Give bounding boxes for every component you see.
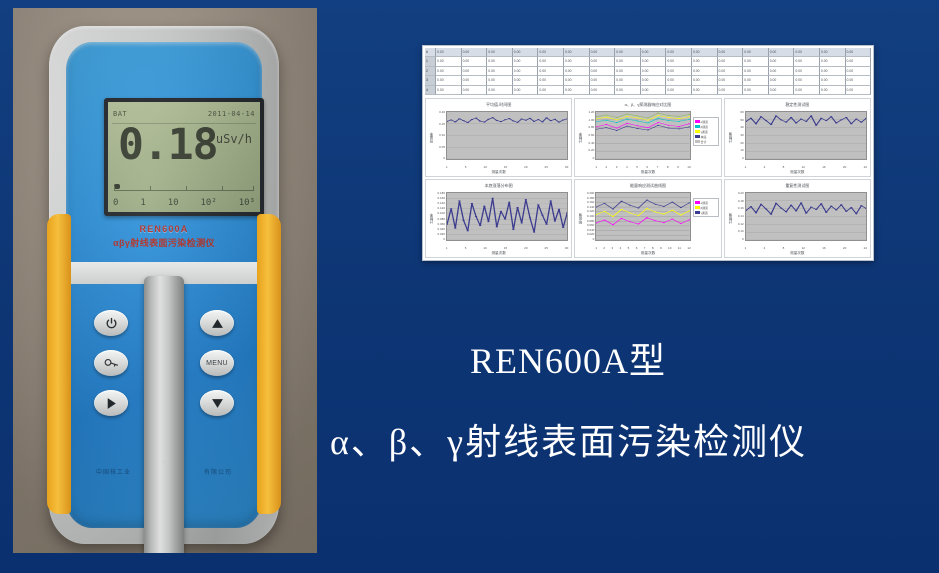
chart-x-tick: 2: [603, 246, 605, 250]
chart-y-tick: 0.060: [587, 224, 595, 227]
lcd-bargraph-tick: [222, 186, 223, 190]
chart-card: 能量响应测试曲线图响应值测量次数0.2000.1800.1600.1400.12…: [574, 179, 721, 258]
chart-legend-swatch: [695, 140, 700, 143]
lcd-frame: BAT 2011-04-14 0.18 uSv/h: [104, 98, 264, 216]
play-button[interactable]: [94, 390, 128, 416]
chart-x-ticks: 14812162024: [745, 245, 867, 250]
table-cell: 0.00: [590, 48, 616, 57]
chart-card: 重复性测试图计数值测量次数0.200.180.160.140.120.10014…: [724, 179, 871, 258]
chart-y-tick: 0.040: [587, 229, 595, 232]
table-cell: 0.00: [462, 86, 488, 95]
table-cell: 0.00: [487, 67, 513, 76]
chart-plot-area: [595, 192, 690, 241]
table-cell: 0.00: [743, 57, 769, 66]
chart-x-tick: 5: [636, 165, 638, 169]
lcd-screen: BAT 2011-04-14 0.18 uSv/h: [108, 102, 260, 212]
chart-x-tick: 4: [764, 165, 766, 169]
table-cell: 0.00: [743, 48, 769, 57]
chart-xlabel: 测量次数: [575, 170, 720, 175]
chart-x-tick: 10: [483, 246, 486, 250]
chart-x-ticks: 151015202530: [446, 245, 568, 250]
chart-x-tick: 12: [802, 246, 805, 250]
device-model-label: REN600A: [66, 224, 262, 234]
chart-y-tick: 0.15: [439, 123, 445, 126]
table-cell: 0.00: [743, 86, 769, 95]
chart-plot-area: [446, 192, 568, 241]
chart-plot-area: [745, 111, 867, 160]
chart-legend-swatch: [695, 201, 700, 204]
table-cell: 0.00: [615, 48, 641, 57]
chart-legend-swatch: [695, 125, 700, 128]
table-cell: 0.00: [538, 76, 564, 85]
table-row: 40.000.000.000.000.000.000.000.000.000.0…: [425, 86, 871, 95]
chart-legend-item: γ通道: [695, 210, 717, 215]
chart-y-tick: 0.60: [588, 134, 594, 137]
table-cell: 0.00: [692, 48, 718, 57]
table-row-index: 3: [425, 76, 436, 85]
table-row: 30.000.000.000.000.000.000.000.000.000.0…: [425, 76, 871, 85]
table-cell: 0.00: [436, 76, 462, 85]
chart-legend-label: 本底: [701, 135, 707, 139]
table-cell: 0.00: [615, 86, 641, 95]
table-cell: 0.00: [666, 76, 692, 85]
table-cell: 0.00: [538, 67, 564, 76]
table-cell: 0.00: [718, 67, 744, 76]
lcd-bargraph-tick: [253, 186, 254, 190]
table-cell: 0.00: [846, 57, 872, 66]
chart-y-tick: 1.20: [588, 111, 594, 114]
table-cell: 0.00: [846, 67, 872, 76]
lcd-date-indicator: 2011-04-14: [208, 110, 255, 118]
chart-x-tick: 9: [677, 165, 679, 169]
chart-y-tick: 40: [740, 126, 743, 129]
table-cell: 0.00: [487, 86, 513, 95]
search-button[interactable]: [94, 350, 128, 376]
lcd-scale-label: 10³: [239, 198, 255, 208]
table-cell: 0.00: [590, 57, 616, 66]
table-cell: 0.00: [641, 67, 667, 76]
chart-x-tick: 10: [687, 165, 690, 169]
chart-title: 稳定性测试图: [725, 102, 870, 108]
table-cell: 0.00: [615, 67, 641, 76]
table-cell: 0.00: [794, 57, 820, 66]
chart-y-tick: 60: [740, 111, 743, 114]
lcd-scale-labels: 0 1 10 10² 10³: [113, 197, 255, 209]
chart-x-tick: 9: [660, 246, 662, 250]
chart-x-tick: 24: [864, 165, 867, 169]
table-cell: 0.00: [666, 86, 692, 95]
chart-plot-area: [595, 111, 690, 160]
table-cell: 0.00: [692, 86, 718, 95]
chart-card: 平均值-时间图剂量率测量次数0.200.150.100.050151015202…: [425, 98, 572, 177]
chart-legend-label: α通道: [701, 201, 708, 205]
chart-legend-swatch: [695, 120, 700, 123]
chart-y-tick: 0.16: [738, 207, 744, 210]
chart-y-tick: 0.180: [587, 197, 595, 200]
chart-x-tick: 1: [446, 165, 448, 169]
table-cell: 0.00: [513, 48, 539, 57]
device-maker-right: 有限公司: [204, 467, 232, 476]
table-cell: 0.00: [513, 86, 539, 95]
chart-x-tick: 25: [545, 165, 548, 169]
table-row-index: #: [425, 48, 436, 57]
chart-y-tick: 0.080: [437, 218, 445, 221]
chart-y-tick: 50: [740, 119, 743, 122]
chart-x-tick: 10: [483, 165, 486, 169]
chart-x-ticks: 123456789101112: [595, 245, 690, 250]
chart-y-tick: 0: [593, 238, 595, 241]
table-cell: 0.00: [436, 67, 462, 76]
chart-x-tick: 7: [644, 246, 646, 250]
chart-x-tick: 8: [667, 165, 669, 169]
table-cell: 0.00: [666, 67, 692, 76]
chart-y-tick: 10: [740, 149, 743, 152]
chart-y-tick: 0.20: [738, 192, 744, 195]
table-cell: 0.00: [692, 76, 718, 85]
table-header-row: #0.000.000.000.000.000.000.000.000.000.0…: [425, 48, 871, 57]
poster-title-line2: α、β、γ射线表面污染检测仪: [330, 413, 807, 465]
chart-y-tick: 0.40: [588, 142, 594, 145]
chart-card: α、β、γ探测器响应对比图计数率测量次数1.201.000.800.600.40…: [574, 98, 721, 177]
table-cell: 0.00: [538, 86, 564, 95]
key-icon: [104, 357, 119, 369]
chart-y-tick: 0.020: [587, 233, 595, 236]
table-cell: 0.00: [769, 86, 795, 95]
chart-x-tick: 20: [843, 165, 846, 169]
measurement-data-table: #0.000.000.000.000.000.000.000.000.000.0…: [425, 48, 871, 95]
chart-x-tick: 3: [616, 165, 618, 169]
chart-x-tick: 2: [606, 165, 608, 169]
table-cell: 0.00: [718, 57, 744, 66]
chart-x-tick: 7: [657, 165, 659, 169]
lcd-bargraph-tick: [186, 186, 187, 190]
table-cell: 0.00: [820, 76, 846, 85]
chart-y-tick: 0.040: [437, 228, 445, 231]
device-maker-left: 中国核工业: [96, 467, 131, 476]
table-row: 20.000.000.000.000.000.000.000.000.000.0…: [425, 67, 871, 76]
chart-y-tick: 0.10: [738, 230, 744, 233]
chart-y-tick: 0.200: [587, 192, 595, 195]
chart-y-ticks: 0.1800.1600.1400.1200.1000.0800.0600.040…: [433, 192, 445, 241]
table-cell: 0.00: [564, 76, 590, 85]
table-cell: 0.00: [590, 76, 616, 85]
chart-x-tick: 3: [611, 246, 613, 250]
chart-y-tick: 30: [740, 134, 743, 137]
chart-x-tick: 20: [524, 165, 527, 169]
power-button[interactable]: [94, 310, 128, 336]
chart-y-tick: 0.020: [437, 233, 445, 236]
chart-x-ticks: 14812162024: [745, 164, 867, 169]
table-cell: 0.00: [794, 67, 820, 76]
chart-plot-area: [446, 111, 568, 160]
chart-x-tick: 20: [843, 246, 846, 250]
table-cell: 0.00: [846, 86, 872, 95]
chart-legend: α通道β通道γ通道本底合计: [693, 117, 719, 146]
software-screenshot-panel: #0.000.000.000.000.000.000.000.000.000.0…: [422, 45, 874, 261]
table-cell: 0.00: [513, 67, 539, 76]
chart-x-tick: 15: [504, 165, 507, 169]
table-cell: 0.00: [436, 86, 462, 95]
chart-y-tick: 0.180: [437, 192, 445, 195]
chart-x-tick: 4: [626, 165, 628, 169]
chart-title: 重复性测试图: [725, 183, 870, 189]
chart-y-tick: 0.140: [587, 206, 595, 209]
table-cell: 0.00: [436, 57, 462, 66]
chart-y-tick: 0.18: [738, 200, 744, 203]
lcd-measurement-value: 0.18: [118, 124, 218, 167]
table-cell: 0.00: [743, 76, 769, 85]
chart-x-tick: 12: [687, 246, 690, 250]
chart-y-ticks: 6050403020100: [732, 111, 744, 160]
chart-x-tick: 12: [802, 165, 805, 169]
chart-y-ticks: 0.200.180.160.140.120.100: [732, 192, 744, 241]
table-cell: 0.00: [769, 57, 795, 66]
chart-grid: 平均值-时间图剂量率测量次数0.200.150.100.050151015202…: [425, 98, 871, 258]
table-cell: 0.00: [718, 86, 744, 95]
table-cell: 0.00: [846, 76, 872, 85]
chart-plot-area: [745, 192, 867, 241]
table-cell: 0.00: [794, 76, 820, 85]
chart-y-ticks: 0.200.150.100.050: [433, 111, 445, 160]
chart-y-tick: 0.20: [439, 111, 445, 114]
device-keypad: MENU: [66, 304, 262, 414]
chart-legend-item: 合计: [695, 139, 717, 144]
lcd-scale-label: 0: [113, 198, 118, 208]
chart-x-tick: 24: [864, 246, 867, 250]
table-cell: 0.00: [692, 57, 718, 66]
table-row-index: 1: [425, 57, 436, 66]
table-cell: 0.00: [769, 67, 795, 76]
radiation-detector-device: BAT 2011-04-14 0.18 uSv/h: [49, 26, 279, 544]
chart-x-tick: 8: [783, 246, 785, 250]
chart-x-tick: 8: [652, 246, 654, 250]
table-cell: 0.00: [564, 48, 590, 57]
chart-y-tick: 0.160: [437, 197, 445, 200]
chart-y-tick: 0: [742, 157, 744, 160]
chart-y-tick: 0.120: [587, 210, 595, 213]
chart-y-tick: 0: [742, 238, 744, 241]
triangle-up-icon: [211, 318, 224, 329]
table-cell: 0.00: [564, 57, 590, 66]
table-row-index: 2: [425, 67, 436, 76]
chart-card: 稳定性测试图计数值测量次数605040302010014812162024: [724, 98, 871, 177]
lcd-battery-indicator: BAT: [113, 110, 127, 118]
handle-dot: [163, 460, 166, 463]
table-cell: 0.00: [641, 76, 667, 85]
table-cell: 0.00: [564, 67, 590, 76]
chart-x-tick: 1: [745, 246, 747, 250]
triangle-down-icon: [211, 398, 224, 409]
chart-legend-label: β通道: [701, 125, 708, 129]
lcd-status-row: BAT 2011-04-14: [113, 106, 255, 121]
table-cell: 0.00: [820, 57, 846, 66]
lcd-bargraph-tick: [150, 186, 151, 190]
chart-card: 本底涨落分布图计数率测量次数0.1800.1600.1400.1200.1000…: [425, 179, 572, 258]
table-cell: 0.00: [436, 48, 462, 57]
chart-x-tick: 1: [595, 165, 597, 169]
chart-x-tick: 5: [465, 165, 467, 169]
table-cell: 0.00: [641, 57, 667, 66]
table-cell: 0.00: [666, 57, 692, 66]
table-cell: 0.00: [462, 67, 488, 76]
chart-x-tick: 6: [646, 165, 648, 169]
chart-title: 本底涨落分布图: [426, 183, 571, 189]
chart-x-tick: 20: [524, 246, 527, 250]
table-cell: 0.00: [564, 86, 590, 95]
poster-title-line1: REN600A型: [470, 332, 666, 384]
chart-legend-label: β通道: [701, 206, 708, 210]
chart-y-tick: 20: [740, 142, 743, 145]
table-cell: 0.00: [641, 48, 667, 57]
chart-x-tick: 5: [465, 246, 467, 250]
chart-y-ticks: 0.2000.1800.1600.1400.1200.1000.0800.060…: [582, 192, 594, 241]
chart-legend-label: α通道: [701, 120, 708, 124]
chart-x-tick: 5: [628, 246, 630, 250]
chart-y-tick: 1.00: [588, 119, 594, 122]
chart-legend-swatch: [695, 211, 700, 214]
chart-y-tick: 0.140: [437, 202, 445, 205]
chart-x-tick: 6: [636, 246, 638, 250]
table-cell: 0.00: [718, 48, 744, 57]
chart-legend: α通道β通道γ通道: [693, 198, 719, 217]
chart-y-tick: 0.05: [439, 146, 445, 149]
table-cell: 0.00: [513, 57, 539, 66]
triangle-right-icon: [106, 397, 117, 410]
chart-legend-label: γ通道: [701, 130, 708, 134]
table-cell: 0.00: [615, 57, 641, 66]
chart-title: 能量响应测试曲线图: [575, 183, 720, 189]
chart-legend-swatch: [695, 130, 700, 133]
chart-legend-label: γ通道: [701, 211, 708, 215]
chart-y-ticks: 1.201.000.800.600.400.200: [582, 111, 594, 160]
chart-y-tick: 0.10: [439, 134, 445, 137]
device-model-label-cn: αβγ射线表面污染检测仪: [66, 236, 262, 249]
chart-y-tick: 0.14: [738, 215, 744, 218]
chart-y-tick: 0.100: [437, 212, 445, 215]
table-cell: 0.00: [487, 57, 513, 66]
lcd-scale-label: 10: [168, 198, 179, 208]
down-button[interactable]: [200, 390, 234, 416]
table-cell: 0.00: [513, 76, 539, 85]
menu-button[interactable]: MENU: [200, 350, 234, 376]
chart-x-ticks: 12345678910: [595, 164, 690, 169]
table-cell: 0.00: [538, 57, 564, 66]
chart-legend-swatch: [695, 135, 700, 138]
table-cell: 0.00: [692, 67, 718, 76]
chart-x-tick: 4: [620, 246, 622, 250]
table-cell: 0.00: [769, 48, 795, 57]
lcd-bargraph: [114, 183, 254, 191]
chart-y-tick: 0.100: [587, 215, 595, 218]
chart-y-tick: 0.060: [437, 223, 445, 226]
chart-xlabel: 测量次数: [575, 251, 720, 256]
chart-x-ticks: 151015202530: [446, 164, 568, 169]
table-cell: 0.00: [846, 48, 872, 57]
lcd-measurement-unit: uSv/h: [216, 132, 252, 146]
chart-legend-label: 合计: [701, 140, 707, 144]
chart-x-tick: 30: [565, 165, 568, 169]
chart-x-tick: 16: [822, 165, 825, 169]
chart-y-tick: 0.20: [588, 149, 594, 152]
chart-x-tick: 15: [504, 246, 507, 250]
table-row: 10.000.000.000.000.000.000.000.000.000.0…: [425, 57, 871, 66]
table-cell: 0.00: [462, 57, 488, 66]
table-cell: 0.00: [820, 86, 846, 95]
table-cell: 0.00: [666, 48, 692, 57]
table-cell: 0.00: [487, 48, 513, 57]
chart-x-tick: 8: [783, 165, 785, 169]
chart-x-tick: 25: [545, 246, 548, 250]
table-cell: 0.00: [462, 48, 488, 57]
chart-x-tick: 1: [595, 246, 597, 250]
chart-title: α、β、γ探测器响应对比图: [575, 102, 720, 108]
chart-xlabel: 测量次数: [725, 251, 870, 256]
table-cell: 0.00: [769, 76, 795, 85]
chart-y-tick: 0.080: [587, 220, 595, 223]
product-photo: BAT 2011-04-14 0.18 uSv/h: [13, 8, 317, 553]
table-cell: 0.00: [462, 76, 488, 85]
table-cell: 0.00: [641, 86, 667, 95]
chart-x-tick: 30: [565, 246, 568, 250]
table-cell: 0.00: [794, 48, 820, 57]
chart-x-tick: 16: [822, 246, 825, 250]
chart-legend-swatch: [695, 206, 700, 209]
table-cell: 0.00: [590, 86, 616, 95]
lcd-bargraph-tick: [114, 186, 115, 190]
chart-x-tick: 4: [764, 246, 766, 250]
table-cell: 0.00: [794, 86, 820, 95]
chart-y-tick: 0.12: [738, 223, 744, 226]
chart-x-tick: 1: [446, 246, 448, 250]
table-row-index: 4: [425, 86, 436, 95]
table-cell: 0.00: [487, 76, 513, 85]
chart-y-tick: 0.120: [437, 207, 445, 210]
power-icon: [105, 317, 118, 330]
table-cell: 0.00: [820, 67, 846, 76]
table-cell: 0.00: [718, 76, 744, 85]
chart-xlabel: 测量次数: [426, 170, 571, 175]
chart-title: 平均值-时间图: [426, 102, 571, 108]
chart-y-tick: 0: [443, 238, 445, 241]
table-cell: 0.00: [538, 48, 564, 57]
chart-y-tick: 0: [593, 157, 595, 160]
chart-x-tick: 10: [668, 246, 671, 250]
lcd-scale-label: 1: [140, 198, 145, 208]
chart-y-tick: 0.160: [587, 201, 595, 204]
lcd-scale-label: 10²: [201, 198, 217, 208]
table-cell: 0.00: [743, 67, 769, 76]
menu-button-label: MENU: [206, 360, 228, 367]
chart-xlabel: 测量次数: [725, 170, 870, 175]
table-cell: 0.00: [820, 48, 846, 57]
table-cell: 0.00: [590, 67, 616, 76]
chart-xlabel: 测量次数: [426, 251, 571, 256]
chart-x-tick: 11: [678, 246, 681, 250]
chart-x-tick: 1: [745, 165, 747, 169]
chart-y-tick: 0.80: [588, 126, 594, 129]
chart-y-tick: 0: [443, 157, 445, 160]
table-cell: 0.00: [615, 76, 641, 85]
up-button[interactable]: [200, 310, 234, 336]
